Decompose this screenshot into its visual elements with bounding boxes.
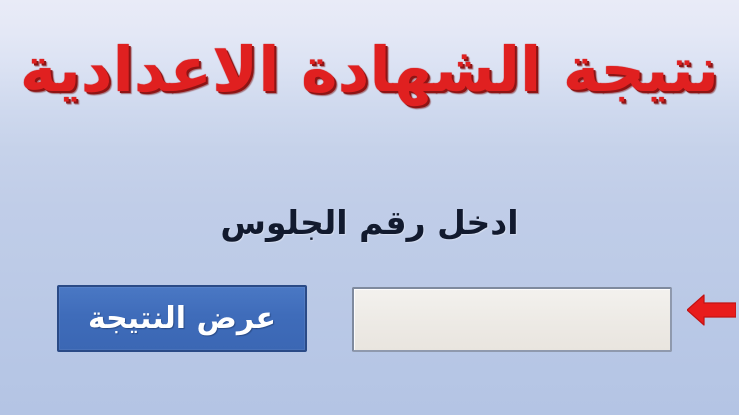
page-title: نتيجة الشهادة الاعدادية bbox=[20, 34, 719, 105]
result-lookup-page: نتيجة الشهادة الاعدادية ادخل رقم الجلوس … bbox=[0, 0, 739, 415]
seat-number-input[interactable] bbox=[352, 287, 672, 352]
arrow-left-icon bbox=[687, 292, 736, 328]
seat-number-label: ادخل رقم الجلوس bbox=[220, 203, 518, 242]
seat-number-label-container: ادخل رقم الجلوس bbox=[0, 203, 739, 242]
page-title-container: نتيجة الشهادة الاعدادية bbox=[0, 34, 739, 105]
show-result-button[interactable]: عرض النتيجة bbox=[57, 285, 307, 352]
